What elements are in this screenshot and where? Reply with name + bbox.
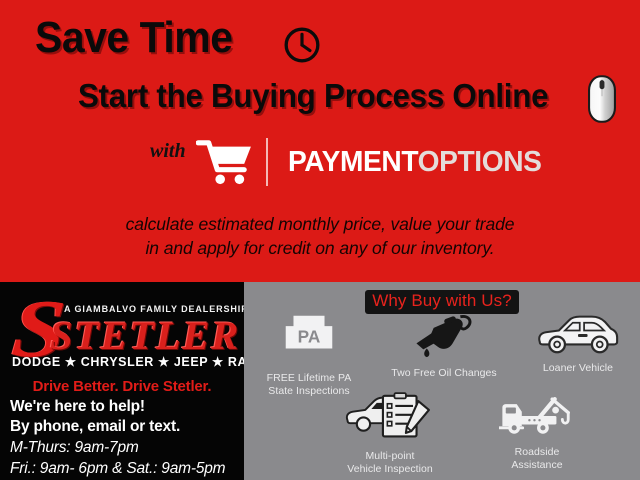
tagline: calculate estimated monthly price, value… xyxy=(0,212,640,260)
wordmark-payment: PAYMENT xyxy=(288,146,418,178)
hours-line-1: M-Thurs: 9am-7pm xyxy=(10,437,244,458)
benefit-loaner-vehicle: Loaner Vehicle xyxy=(518,314,638,375)
clock-icon xyxy=(283,26,321,64)
why-buy-heading: Why Buy with Us? xyxy=(244,290,640,314)
pa-keystone-icon: PA xyxy=(246,314,372,369)
clipboard-car-inspection-icon xyxy=(310,392,470,447)
tagline-line-2: in and apply for credit on any of our in… xyxy=(0,236,640,260)
tow-truck-icon xyxy=(472,394,602,443)
svg-text:PA: PA xyxy=(298,326,321,346)
benefit-roadside-assistance: Roadside Assistance xyxy=(472,394,602,471)
tagline-line-1: calculate estimated monthly price, value… xyxy=(0,212,640,236)
contact-line-1: We're here to help! xyxy=(10,397,244,417)
contact-line-2: By phone, email or text. xyxy=(10,417,244,437)
benefit-pa-inspections: PA FREE Lifetime PA State Inspections xyxy=(246,314,372,397)
giambalvo-family-line: A GIAMBALVO FAMILY DEALERSHIP xyxy=(64,304,244,314)
wordmark-options: OPTIONS xyxy=(418,146,542,178)
benefit-oil-changes: Two Free Oil Changes xyxy=(374,314,514,380)
headline-start-buying-online: Start the Buying Process Online xyxy=(78,76,548,116)
why-buy-heading-text: Why Buy with Us? xyxy=(365,290,519,314)
headline-save-time: Save Time xyxy=(35,13,233,63)
payment-options-wordmark: PAYMENTOPTIONS xyxy=(288,146,542,179)
oil-can-icon xyxy=(374,314,514,364)
contact-block: We're here to help! By phone, email or t… xyxy=(10,397,244,479)
benefit-label: Multi-point Vehicle Inspection xyxy=(310,450,470,475)
payment-options-logo: PAYMENTOPTIONS xyxy=(196,131,512,193)
stetler-wordmark: STETLER xyxy=(50,312,240,359)
hero-panel: Save Time Start the Buying Process Onlin… xyxy=(0,0,640,282)
benefit-label: Roadside Assistance xyxy=(472,446,602,471)
stetler-logo: S A GIAMBALVO FAMILY DEALERSHIP STETLER … xyxy=(0,286,244,378)
dealership-promo-banner: Save Time Start the Buying Process Onlin… xyxy=(0,0,640,480)
benefit-multipoint-inspection: Multi-point Vehicle Inspection xyxy=(310,392,470,475)
benefit-label: Loaner Vehicle xyxy=(518,362,638,375)
why-buy-panel: Why Buy with Us? PA FREE Lifetime PA Sta… xyxy=(244,282,640,480)
benefit-label: Two Free Oil Changes xyxy=(374,367,514,380)
shopping-cart-icon xyxy=(196,138,254,186)
with-label: with xyxy=(150,140,186,163)
brand-list: DODGE ★ CHRYSLER ★ JEEP ★ RAM xyxy=(12,354,232,369)
dealer-slogan: Drive Better. Drive Stetler. xyxy=(0,378,244,395)
dealer-info-panel: S A GIAMBALVO FAMILY DEALERSHIP STETLER … xyxy=(0,282,244,480)
logo-divider xyxy=(266,138,268,186)
computer-mouse-icon xyxy=(588,75,616,123)
hours-line-2: Fri.: 9am- 6pm & Sat.: 9am-5pm xyxy=(10,458,244,479)
car-side-icon xyxy=(518,314,638,359)
